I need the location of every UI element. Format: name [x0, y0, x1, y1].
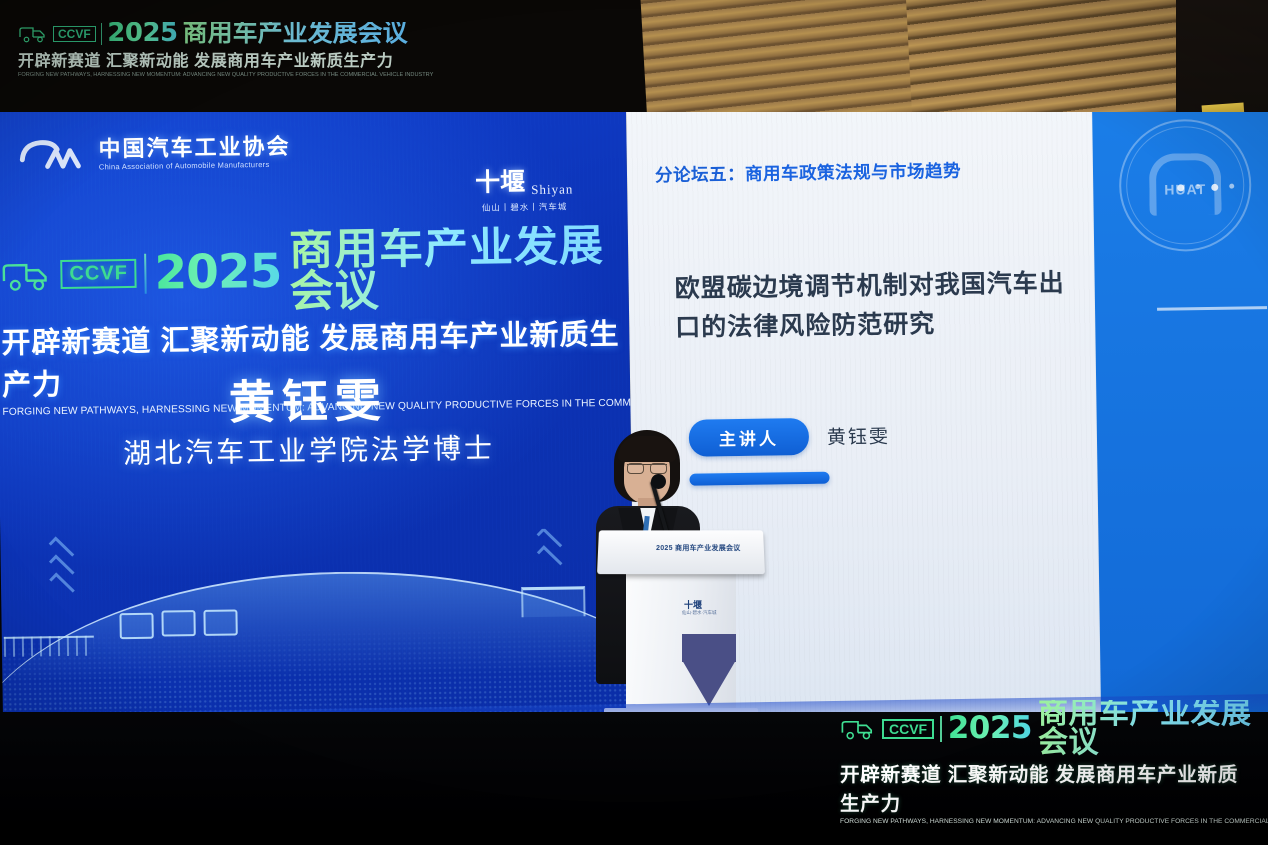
shiyan-name-zh: 十堰: [475, 162, 526, 199]
secondary-pill-label: [689, 472, 829, 486]
slide-title-line1: 欧盟碳边境调节机制对我国汽车出: [674, 264, 1095, 309]
event-title: 商用车产业发展会议: [289, 225, 623, 314]
forum-topic: 商用车政策法规与市场趋势: [745, 161, 961, 184]
ccvf-badge: CCVF: [53, 26, 96, 42]
overhead-event-banner: CCVF 2025 商用车产业发展会议 开辟新赛道 汇聚新动能 发展商用车产业新…: [18, 22, 448, 92]
slide-title-line2: 口的法律风险防范研究: [675, 302, 1096, 347]
divider: [145, 254, 147, 294]
divider: [940, 716, 942, 742]
caam-mark-icon: [16, 135, 87, 176]
dot: [1229, 184, 1234, 189]
dot: [1195, 184, 1200, 189]
city-skyline-illustration: [0, 528, 635, 732]
secondary-badge-row: [689, 472, 829, 486]
shiyan-city-logo: 十堰 Shiyan 仙山丨碧水丨汽车城: [475, 161, 574, 213]
forum-label: 分论坛五：: [655, 164, 745, 185]
ccvf-badge: CCVF: [882, 719, 934, 739]
shiyan-name-en: Shiyan: [531, 181, 573, 198]
truck-icon: [840, 717, 876, 741]
glasses-right-lens: [650, 463, 667, 474]
truck-graphic: [203, 609, 237, 636]
event-slogan-en: FORGING NEW PATHWAYS, HARNESSING NEW MOM…: [840, 818, 1252, 825]
caam-logo: 中国汽车工业协会 China Association of Automobile…: [16, 132, 291, 176]
event-slogan-en: FORGING NEW PATHWAYS, HARNESSING NEW MOM…: [18, 72, 448, 78]
dot: [1177, 184, 1184, 191]
corner-event-watermark: CCVF 2025 商用车产业发展会议 开辟新赛道 汇聚新动能 发展商用车产业新…: [840, 700, 1252, 825]
lectern-column: 十堰 仙山·碧水·汽车城: [626, 572, 736, 712]
decorative-dot-row: [1177, 184, 1234, 192]
divider: [101, 23, 103, 45]
speaker-name: 黄钰雯: [0, 361, 619, 436]
lectern-shiyan-tagline: 仙山·碧水·汽车城: [682, 610, 717, 616]
truck-graphic: [119, 613, 153, 640]
bridge-graphic: [4, 636, 94, 657]
speaker-pill-value: 黄钰雯: [827, 422, 890, 450]
truck-graphic: [161, 610, 195, 637]
microphone-icon: [651, 474, 666, 489]
glasses-left-lens: [627, 463, 644, 474]
truck-icon: [18, 24, 48, 44]
fringe: [618, 436, 676, 462]
lectern-front-logo: 2025 商用车产业发展会议: [656, 543, 741, 553]
shiyan-tagline: 仙山丨碧水丨汽车城: [475, 200, 573, 213]
led-left-panel: 中国汽车工业协会 China Association of Automobile…: [0, 112, 635, 732]
speaker-badge-row: 主讲人 黄钰雯: [689, 417, 891, 457]
event-title: 商用车产业发展会议: [1038, 700, 1252, 757]
event-year: 2025: [948, 715, 1032, 743]
event-year: 2025: [154, 251, 281, 294]
forum-heading: 分论坛五：商用车政策法规与市场趋势: [655, 158, 961, 188]
truck-icon: [0, 257, 53, 294]
slide-title: 欧盟碳边境调节机制对我国汽车出 口的法律风险防范研究: [674, 264, 1095, 348]
lectern-v-graphic: [682, 660, 736, 706]
lectern-top: 2025 商用车产业发展会议: [597, 530, 765, 574]
ccvf-badge: CCVF: [60, 259, 137, 289]
lectern-v-graphic-top: [682, 634, 736, 662]
conference-photo: CCVF 2025 商用车产业发展会议 开辟新赛道 汇聚新动能 发展商用车产业新…: [0, 0, 1268, 845]
event-title: 商用车产业发展会议: [183, 22, 408, 46]
gate-tower-graphic: [521, 586, 585, 617]
caam-name-en: China Association of Automobile Manufact…: [99, 160, 291, 172]
caam-name-zh: 中国汽车工业协会: [98, 135, 290, 161]
event-slogan-zh: 开辟新赛道 汇聚新动能 发展商用车产业新质生产力: [18, 47, 448, 71]
dot: [1211, 184, 1218, 191]
event-slogan-zh: 开辟新赛道 汇聚新动能 发展商用车产业新质生产力: [840, 758, 1252, 816]
event-year: 2025: [107, 22, 177, 45]
